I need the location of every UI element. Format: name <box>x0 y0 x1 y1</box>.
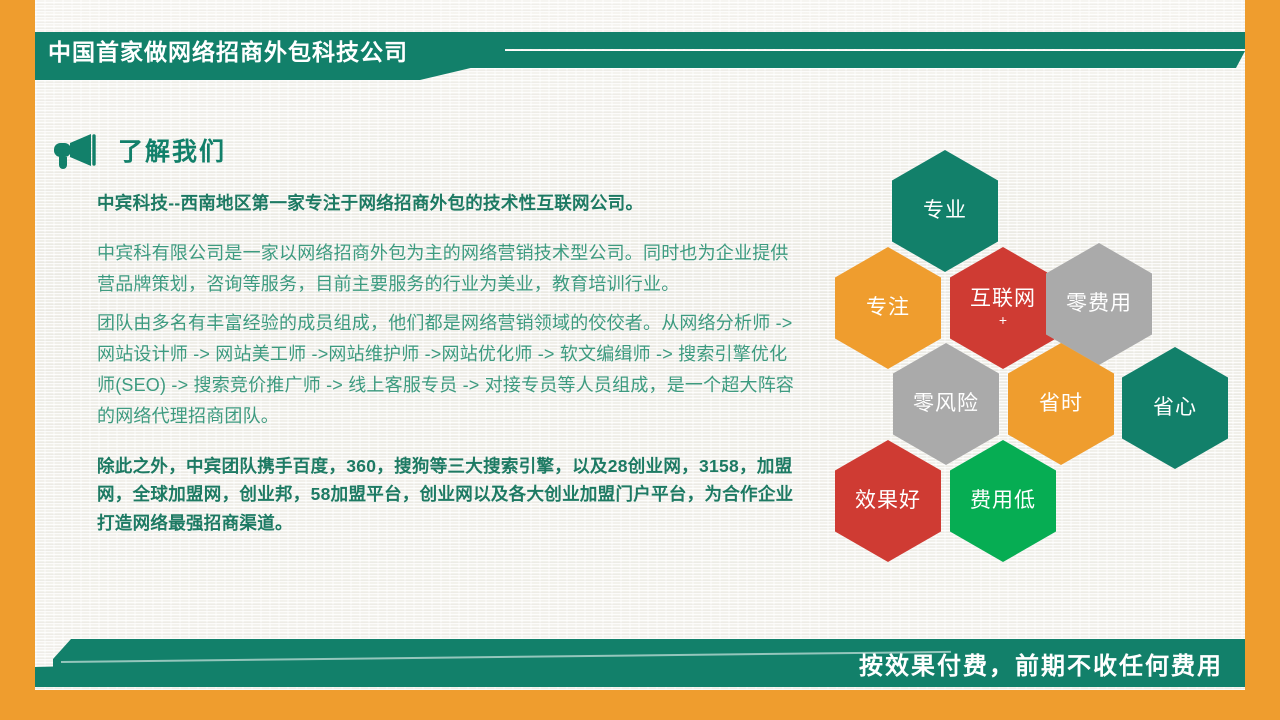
hexagon-cell[interactable]: 效果好 <box>835 440 941 562</box>
body-paragraph-1: 中宾科有限公司是一家以网络招商外包为主的网络营销技术型公司。同时也为企业提供营品… <box>97 238 797 300</box>
footer-slogan: 按效果付费，前期不收任何费用 <box>859 639 1223 687</box>
hexagon-sublabel: + <box>999 312 1007 329</box>
about-copy: 中宾科技--西南地区第一家专注于网络招商外包的技术性互联网公司。 中宾科有限公司… <box>97 190 797 537</box>
hexagon-cell[interactable]: 费用低 <box>950 440 1056 562</box>
hexagon-cell[interactable]: 互联网+ <box>950 247 1056 369</box>
hexagon-label: 互联网 <box>970 287 1036 311</box>
hexagon-cell[interactable]: 专业 <box>892 150 998 272</box>
hexagon-label: 省心 <box>1153 396 1197 420</box>
footer-bar: 按效果付费，前期不收任何费用 <box>35 635 1245 690</box>
hexagon-label: 专业 <box>923 199 967 223</box>
hexagon-cell[interactable]: 零风险 <box>893 343 999 465</box>
lead-paragraph: 中宾科技--西南地区第一家专注于网络招商外包的技术性互联网公司。 <box>97 190 797 216</box>
hexagon-label: 效果好 <box>855 489 921 513</box>
hexagon-cell[interactable]: 专注 <box>835 247 941 369</box>
hexagon-label: 零风险 <box>913 392 979 416</box>
megaphone-icon <box>50 132 96 172</box>
hexagon-label: 省时 <box>1039 392 1083 416</box>
hexagon-label: 零费用 <box>1066 292 1132 316</box>
closing-paragraph: 除此之外，中宾团队携手百度，360，搜狗等三大搜索引擎，以及28创业网，3158… <box>97 452 797 537</box>
hexagon-diagram: 专业专注互联网+零费用零风险省时省心效果好费用低 <box>830 150 1240 550</box>
hexagon-label: 专注 <box>866 296 910 320</box>
header-title: 中国首家做网络招商外包科技公司 <box>48 41 408 64</box>
slide-root: 中国首家做网络招商外包科技公司 了解我们 中宾科技--西南地区第一家专注于网络招… <box>0 0 1280 720</box>
hexagon-cell[interactable]: 省心 <box>1122 347 1228 469</box>
section-heading: 了解我们 <box>50 132 226 172</box>
header-title-block: 中国首家做网络招商外包科技公司 <box>35 32 505 80</box>
body-paragraph-2: 团队由多名有丰富经验的成员组成，他们都是网络营销领域的佼佼者。从网络分析师 ->… <box>97 308 797 432</box>
hexagon-label: 费用低 <box>970 489 1036 513</box>
section-title: 了解我们 <box>118 140 226 165</box>
